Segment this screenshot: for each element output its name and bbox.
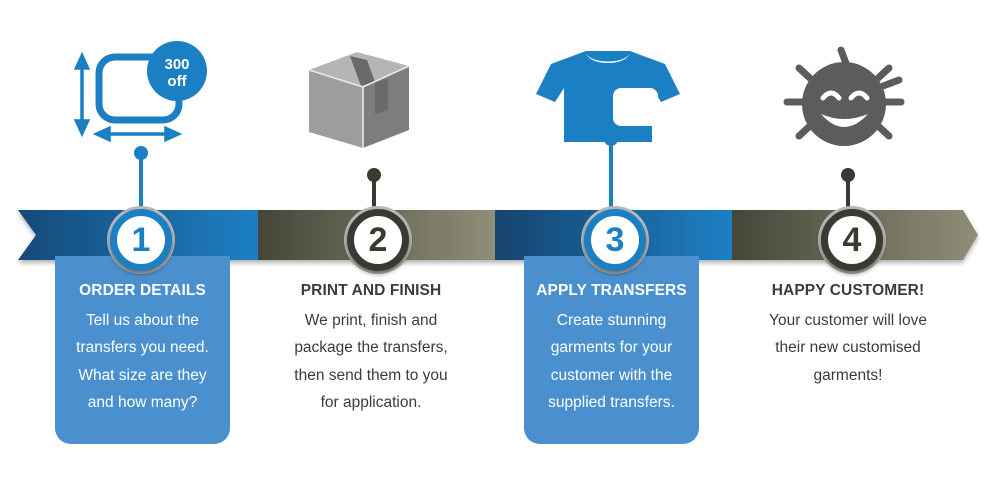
step-number-3[interactable]: 3	[584, 209, 646, 271]
step-body-2: We print, finish and package the transfe…	[285, 307, 457, 417]
step-card-1: ORDER DETAILS Tell us about the transfer…	[55, 256, 230, 444]
step-title-4: HAPPY CUSTOMER!	[762, 282, 934, 301]
step-card-2: PRINT AND FINISH We print, finish and pa…	[275, 256, 467, 444]
size-label-icon: 300 off	[60, 30, 210, 145]
step-title-2: PRINT AND FINISH	[285, 282, 457, 301]
shipping-box-icon	[305, 48, 415, 153]
step-card-3: APPLY TRANSFERS Create stunning garments…	[524, 256, 699, 444]
badge-line-2: off	[167, 73, 187, 90]
stem-dot-3	[604, 132, 618, 146]
step-number-2[interactable]: 2	[347, 209, 409, 271]
step-title-1: ORDER DETAILS	[65, 282, 220, 301]
infographic-canvas: 300 off	[0, 0, 1000, 500]
badge-line-1: 300	[164, 56, 189, 73]
stem-dot-2	[367, 168, 381, 182]
step-card-4: HAPPY CUSTOMER! Your customer will love …	[752, 256, 944, 444]
step-body-1: Tell us about the transfers you need. Wh…	[65, 307, 220, 417]
step-number-1[interactable]: 1	[110, 209, 172, 271]
step-number-4[interactable]: 4	[821, 209, 883, 271]
step-body-4: Your customer will love their new custom…	[762, 307, 934, 390]
stem-dot-1	[134, 146, 148, 160]
step-body-3: Create stunning garments for your custom…	[534, 307, 689, 417]
smiling-sun-icon	[773, 40, 915, 166]
step-title-3: APPLY TRANSFERS	[534, 282, 689, 301]
stem-dot-4	[841, 168, 855, 182]
